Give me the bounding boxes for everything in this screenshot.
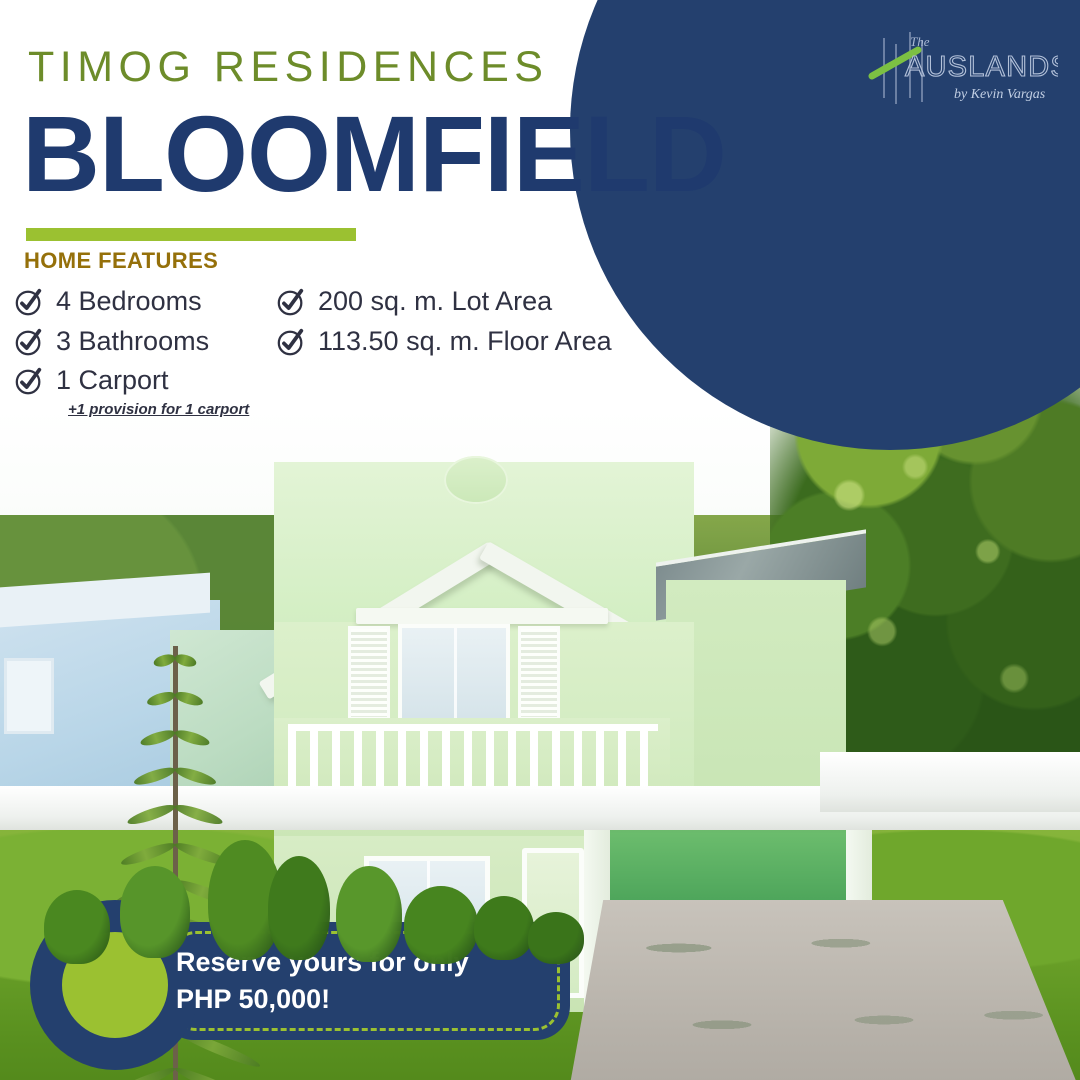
carport-provision-note: +1 provision for 1 carport	[68, 401, 249, 418]
garden-shrub	[120, 866, 190, 958]
features-right-column: 200 sq. m. Lot Area 113.50 sq. m. Floor …	[276, 284, 612, 363]
check-circle-icon	[14, 287, 44, 317]
feature-label: 4 Bedrooms	[56, 284, 202, 319]
pine-branch	[173, 727, 211, 748]
home-features-label: HOME FEATURES	[24, 248, 218, 274]
garden-shrub	[474, 896, 534, 960]
check-circle-icon	[276, 287, 306, 317]
garden-shrub	[268, 856, 330, 960]
feature-label: 3 Bathrooms	[56, 324, 209, 359]
feature-label: 200 sq. m. Lot Area	[318, 284, 552, 319]
gable-vent	[444, 456, 508, 504]
perimeter-fence-right	[820, 752, 1080, 812]
feature-item-bedrooms: 4 Bedrooms	[14, 284, 249, 319]
pine-branch	[119, 839, 176, 868]
feature-item-lot-area: 200 sq. m. Lot Area	[276, 284, 612, 319]
page-title: BLOOMFIELD	[22, 100, 726, 208]
lime-accent-bar	[26, 228, 356, 241]
svg-text:by Kevin Vargas: by Kevin Vargas	[954, 87, 1046, 102]
feature-item-floor-area: 113.50 sq. m. Floor Area	[276, 324, 612, 359]
check-circle-icon	[276, 327, 306, 357]
hauslands-logo[interactable]: The AUSLANDS by Kevin Vargas	[858, 24, 1058, 110]
pine-branch	[173, 802, 224, 828]
svg-text:AUSLANDS: AUSLANDS	[905, 51, 1058, 83]
pine-branch	[132, 764, 176, 788]
feature-item-bathrooms: 3 Bathrooms	[14, 324, 249, 359]
features-left-column: 4 Bedrooms 3 Bathrooms 1 Carport +1 prov…	[14, 284, 249, 418]
cta-line-2: PHP 50,000!	[176, 981, 556, 1018]
shutter-left	[348, 626, 390, 720]
feature-label: 113.50 sq. m. Floor Area	[318, 324, 612, 359]
garden-shrub	[528, 912, 584, 964]
concrete-driveway	[560, 900, 1080, 1080]
check-circle-icon	[14, 366, 44, 396]
poster-canvas: The AUSLANDS by Kevin Vargas TIMOG RESID…	[0, 0, 1080, 1080]
shutter-right	[518, 626, 560, 720]
project-eyebrow: TIMOG RESIDENCES	[28, 46, 548, 89]
balcony-door-lintel	[356, 608, 608, 624]
garden-shrub	[336, 866, 402, 962]
svg-text:The: The	[910, 34, 930, 49]
feature-label: 1 Carport	[56, 363, 169, 398]
pine-branch	[173, 764, 217, 788]
upper-window	[398, 624, 510, 722]
garden-shrub	[404, 886, 478, 964]
pine-branch	[146, 690, 177, 709]
pine-branch	[126, 802, 177, 828]
pine-branch	[173, 690, 204, 709]
pine-branch	[139, 727, 177, 748]
check-circle-icon	[14, 327, 44, 357]
garden-shrub	[44, 890, 110, 964]
feature-item-carport: 1 Carport	[14, 363, 249, 398]
